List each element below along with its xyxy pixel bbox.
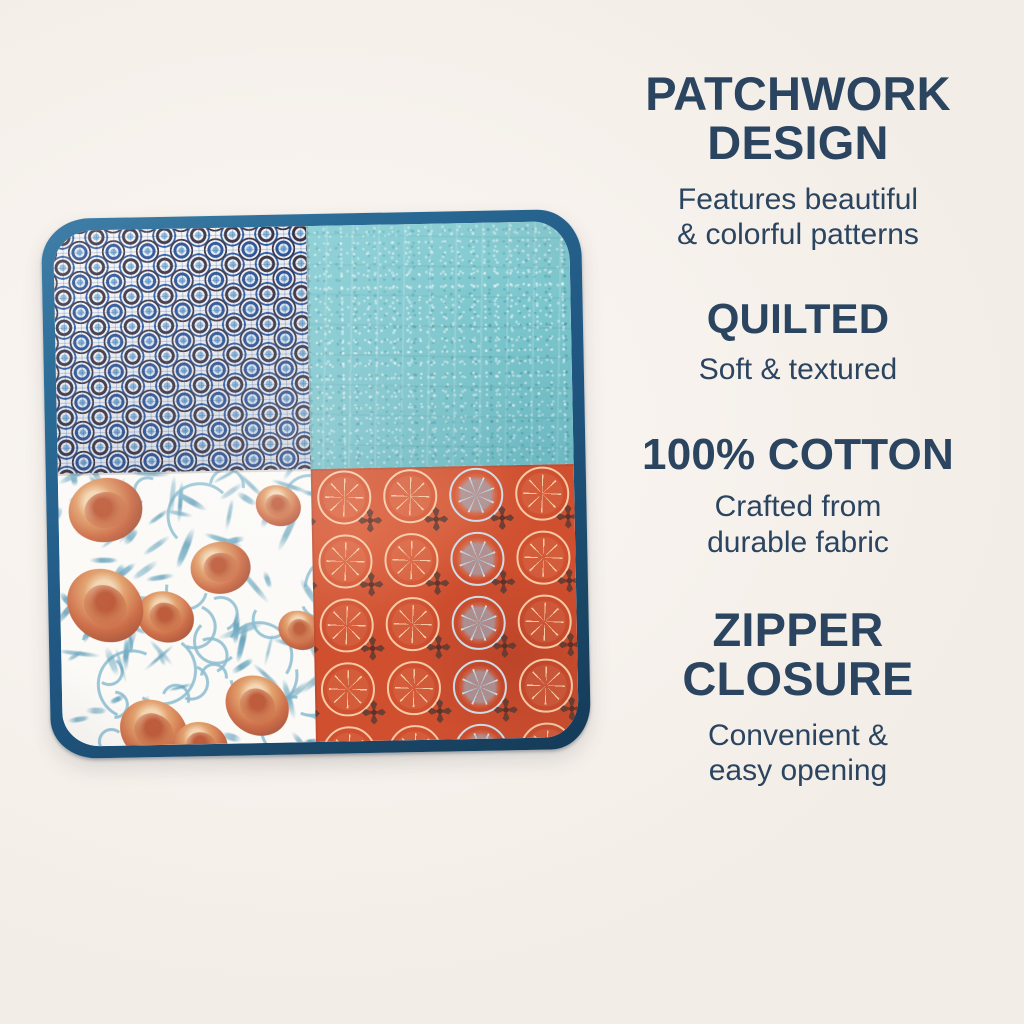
feature-subtitle-line-1: Soft & textured [699, 353, 897, 386]
feature-title: 100% COTTON [572, 432, 1024, 478]
feature-zipper-closure: ZIPPER CLOSURE Convenient & easy opening [572, 606, 1024, 789]
pillow-body [41, 209, 591, 759]
medallion-spokes [391, 476, 430, 515]
floral-foliage-layer [58, 469, 316, 747]
feature-title: ZIPPER CLOSURE [572, 606, 1024, 704]
hexagon-shading [53, 226, 310, 473]
pillow-quadrant-bottom-right [311, 464, 579, 742]
medallion-spokes [458, 539, 497, 578]
medallion-spokes [460, 667, 499, 706]
product-image-pillow [34, 196, 594, 776]
feature-subtitle: Features beautiful & colorful patterns [572, 182, 1024, 253]
pillow-quadrant-bottom-left [58, 469, 316, 747]
feature-subtitle-line-2: & colorful patterns [677, 218, 919, 251]
medallion-spokes [525, 602, 564, 641]
feature-quilted: QUILTED Soft & textured [572, 297, 1024, 388]
feature-subtitle-line-1: Features beautiful [678, 183, 918, 216]
medallion-spokes [326, 542, 365, 581]
medallion-spokes [459, 603, 498, 642]
medallion-spokes [526, 666, 565, 705]
feature-subtitle: Soft & textured [572, 352, 1024, 387]
feature-title-line-1: PATCHWORK [645, 67, 951, 120]
teal-shading [306, 221, 574, 469]
pillow-quadrant-top-left [53, 226, 310, 473]
floral-leaf [58, 506, 64, 524]
pillow-face [53, 221, 579, 747]
pillow-quadrant-top-right [306, 221, 574, 469]
medallion-spokes [327, 606, 366, 645]
feature-cotton: 100% COTTON Crafted from durable fabric [572, 432, 1024, 561]
medallion-spokes [524, 538, 563, 577]
floral-leaf [89, 558, 118, 563]
floral-leaf [263, 570, 274, 589]
medallion-spokes [393, 604, 432, 643]
medallion-spokes [330, 734, 369, 742]
feature-title: QUILTED [572, 297, 1024, 341]
medallion-spokes [328, 670, 367, 709]
feature-subtitle: Crafted from durable fabric [572, 489, 1024, 560]
feature-list: PATCHWORK DESIGN Features beautiful & co… [572, 70, 1024, 797]
feature-title-line-2: CLOSURE [682, 652, 913, 705]
feature-subtitle: Convenient & easy opening [572, 718, 1024, 789]
medallion-spokes [325, 478, 364, 517]
feature-patchwork-design: PATCHWORK DESIGN Features beautiful & co… [572, 70, 1024, 253]
medallion-spokes [523, 474, 562, 513]
feature-subtitle-line-2: easy opening [709, 754, 887, 787]
feature-title: PATCHWORK DESIGN [572, 70, 1024, 168]
feature-title-line-1: QUILTED [707, 295, 890, 342]
feature-title-line-2: DESIGN [707, 116, 888, 169]
feature-subtitle-line-1: Crafted from [715, 490, 882, 523]
medallion-spokes [394, 668, 433, 707]
feature-subtitle-line-2: durable fabric [707, 526, 889, 559]
feature-subtitle-line-1: Convenient & [708, 719, 888, 752]
feature-title-line-1: ZIPPER [713, 603, 884, 656]
floral-leaf [142, 534, 171, 557]
medallion-spokes [392, 540, 431, 579]
medallion-spokes [457, 475, 496, 514]
floral-leaf [67, 715, 90, 724]
feature-title-line-1: 100% COTTON [642, 430, 954, 479]
infographic-canvas: PATCHWORK DESIGN Features beautiful & co… [0, 0, 1024, 1024]
